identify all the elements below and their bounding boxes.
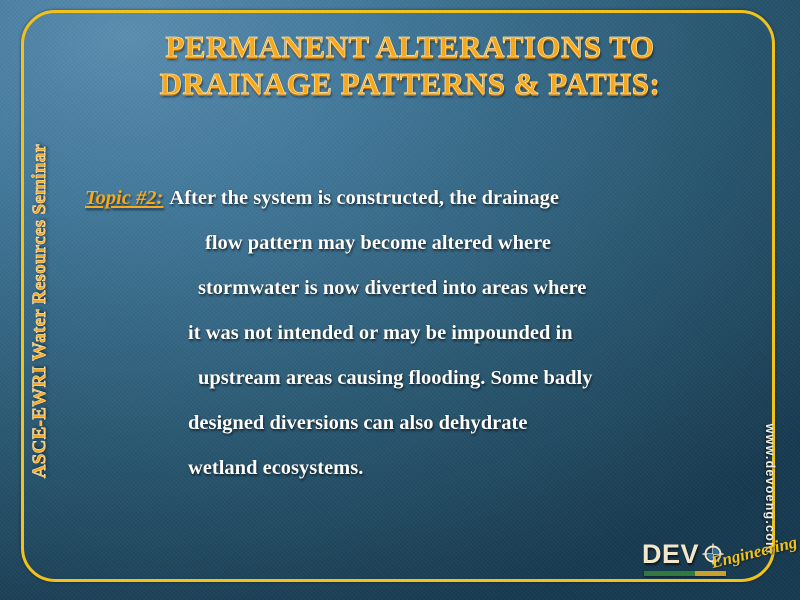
body-text-1: After the system is constructed, the dra… xyxy=(169,187,559,209)
title-line-1: Permanent Alterations to xyxy=(110,28,710,65)
topic-label: Topic #2: xyxy=(85,187,163,209)
devo-engineering-logo[interactable]: DEV Engineering xyxy=(640,537,780,593)
title-line-2: Drainage Patterns & Paths: xyxy=(110,65,710,102)
presentation-slide: Permanent Alterations to Drainage Patter… xyxy=(0,0,800,600)
seminar-ribbon-text: ASCE-EWRI Water Resources Seminar xyxy=(29,81,51,541)
logo-script-text: Engineering xyxy=(709,532,799,573)
body-line-3: stormwater is now diverted into areas wh… xyxy=(60,266,760,311)
slide-body: Topic #2:After the system is constructed… xyxy=(60,176,760,491)
body-line-4: it was not intended or may be impounded … xyxy=(60,311,760,356)
slide-title: Permanent Alterations to Drainage Patter… xyxy=(110,28,710,102)
body-line-2: flow pattern may become altered where xyxy=(60,221,760,266)
body-line-7: wetland ecosystems. xyxy=(60,446,760,491)
body-line-6: designed diversions can also dehydrate xyxy=(60,401,760,446)
body-line-5: upstream areas causing flooding. Some ba… xyxy=(60,356,760,401)
body-line-1: Topic #2:After the system is constructed… xyxy=(60,176,760,221)
logo-wordmark: DEV xyxy=(642,539,699,570)
